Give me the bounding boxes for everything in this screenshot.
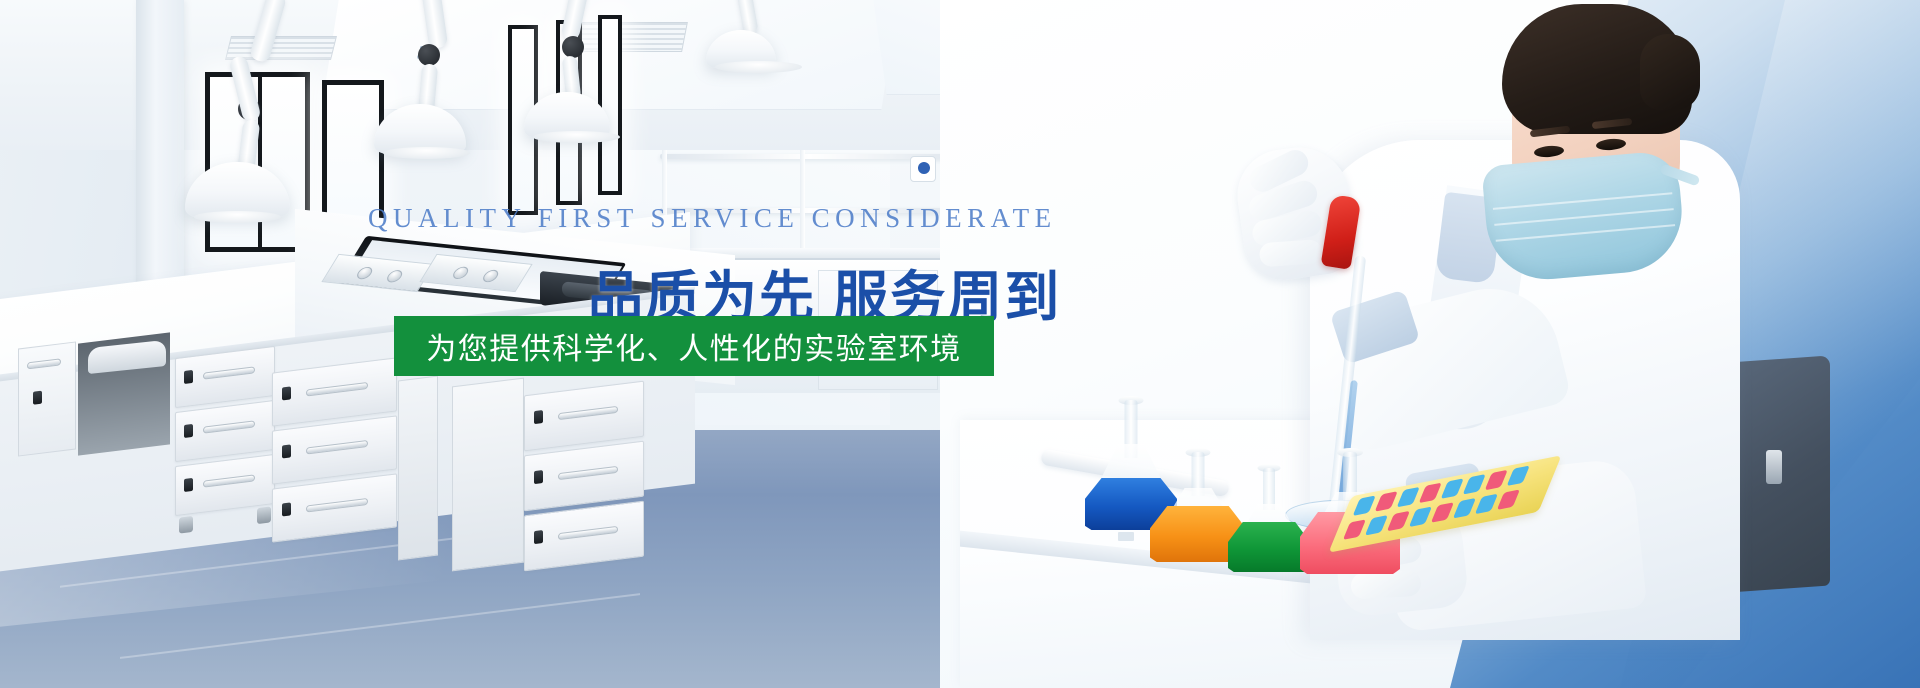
tube-cap — [1387, 511, 1410, 531]
tube-cap — [1431, 502, 1454, 522]
tube-cap — [1343, 519, 1366, 539]
drawer-lock-icon — [534, 530, 543, 544]
drawer-lock-icon — [282, 444, 291, 458]
hero-banner: QUALITY FIRST SERVICE CONSIDERATE 品质为先 服… — [0, 0, 1920, 688]
lamp-joint — [562, 36, 584, 58]
tube-cap — [1419, 483, 1442, 503]
mask-pleat — [1493, 192, 1672, 210]
valve-knob-icon — [450, 266, 471, 280]
window — [598, 15, 622, 195]
drawer-lock-icon — [282, 386, 291, 400]
banner-subtitle-text: 为您提供科学化、人性化的实验室环境 — [426, 324, 962, 368]
banner-subtitle-bar: 为您提供科学化、人性化的实验室环境 — [394, 316, 994, 376]
drawer-pedestal — [175, 346, 275, 518]
drawer-lock-icon — [534, 470, 543, 484]
chair-label-tag — [1766, 450, 1782, 484]
valve-knob-icon — [354, 266, 375, 280]
glove-finger — [1259, 239, 1323, 267]
hair-bun — [1640, 34, 1700, 110]
banner-eyebrow-text: QUALITY FIRST SERVICE CONSIDERATE — [368, 203, 1028, 234]
bench-side-panel — [398, 376, 438, 561]
drawer-pedestal — [524, 381, 644, 571]
drawer-lock-icon — [282, 502, 291, 516]
tube-cap — [1365, 515, 1388, 535]
wall-sign-icon — [910, 156, 936, 182]
drawer-lock-icon — [184, 424, 193, 438]
flask-neck — [1263, 468, 1275, 510]
tube-cap — [1409, 507, 1432, 527]
cabinet-handle — [27, 358, 61, 369]
tube-cap — [1485, 470, 1508, 490]
bench-cabinet — [452, 378, 524, 572]
bench-cabinet — [18, 341, 76, 456]
tube-cap — [1453, 498, 1476, 518]
tube-cap — [1463, 474, 1486, 494]
drawer-lock-icon — [184, 478, 193, 492]
valve-knob-icon — [384, 269, 405, 283]
caster-wheel — [179, 516, 193, 534]
drawer-lock-icon — [534, 410, 543, 424]
tube-cap — [1497, 489, 1520, 509]
caster-wheel — [257, 506, 271, 524]
lamp-joint — [418, 44, 440, 66]
tube-cap — [1475, 494, 1498, 514]
flask-liquid — [1228, 522, 1310, 572]
glove-finger — [1350, 570, 1421, 600]
tube-cap — [1397, 487, 1420, 507]
tube-cap — [1375, 491, 1398, 511]
valve-knob-icon — [480, 269, 501, 283]
erlenmeyer-flask-green — [1228, 468, 1310, 572]
tube-cap — [1441, 478, 1464, 498]
mask-pleat — [1496, 224, 1675, 242]
drawer-pedestal — [272, 357, 397, 542]
glass-slide — [1118, 532, 1134, 541]
tube-cap — [1507, 466, 1530, 486]
cabinet-lock-icon — [33, 391, 42, 405]
mask-pleat — [1494, 208, 1673, 226]
drawer-lock-icon — [184, 370, 193, 384]
tube-cap — [1353, 495, 1376, 515]
